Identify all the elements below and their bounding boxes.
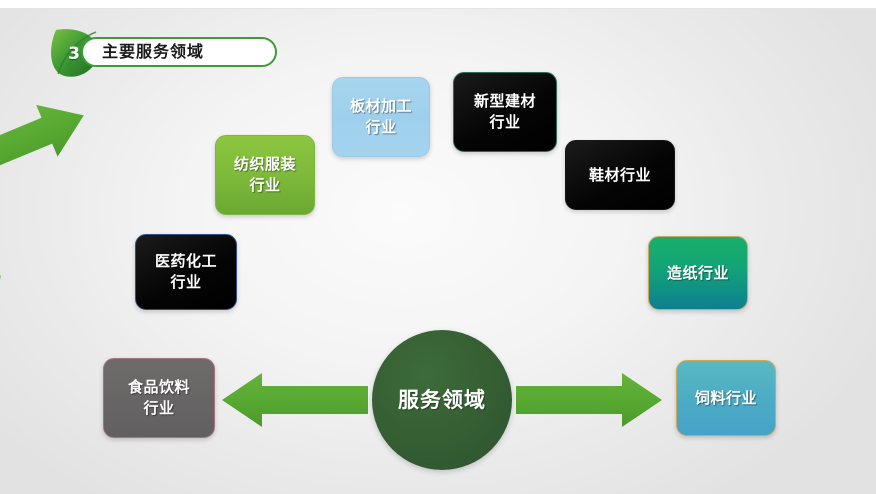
node-label: 饲料行业 — [689, 388, 763, 409]
arrow-to-shoe-materials — [0, 256, 21, 397]
node-label: 鞋材行业 — [583, 165, 657, 186]
node-paper-making[interactable]: 造纸行业 — [648, 236, 748, 310]
node-feed-industry[interactable]: 饲料行业 — [676, 360, 776, 436]
node-label: 食品饮料 行业 — [122, 377, 196, 419]
node-new-building-materials[interactable]: 新型建材 行业 — [453, 72, 557, 152]
slide-canvas: 主要服务领域 3 — [0, 0, 876, 494]
node-pharma-chemical[interactable]: 医药化工 行业 — [135, 234, 237, 310]
node-board-processing[interactable]: 板材加工 行业 — [332, 77, 430, 157]
hub-circle[interactable]: 服务领域 — [372, 330, 512, 470]
node-label: 新型建材 行业 — [468, 91, 542, 133]
arrow-to-feed-industry — [516, 373, 662, 427]
arrow-to-food-beverage — [222, 373, 368, 427]
node-food-beverage[interactable]: 食品饮料 行业 — [103, 358, 215, 438]
hub-label: 服务领域 — [372, 388, 512, 412]
node-label: 纺织服装 行业 — [228, 154, 302, 196]
node-label: 医药化工 行业 — [149, 251, 223, 293]
arrow-to-paper-making — [0, 90, 95, 198]
node-textile-apparel[interactable]: 纺织服装 行业 — [215, 135, 315, 215]
node-label: 造纸行业 — [661, 263, 735, 284]
node-shoe-materials[interactable]: 鞋材行业 — [565, 140, 675, 210]
node-label: 板材加工 行业 — [344, 96, 418, 138]
